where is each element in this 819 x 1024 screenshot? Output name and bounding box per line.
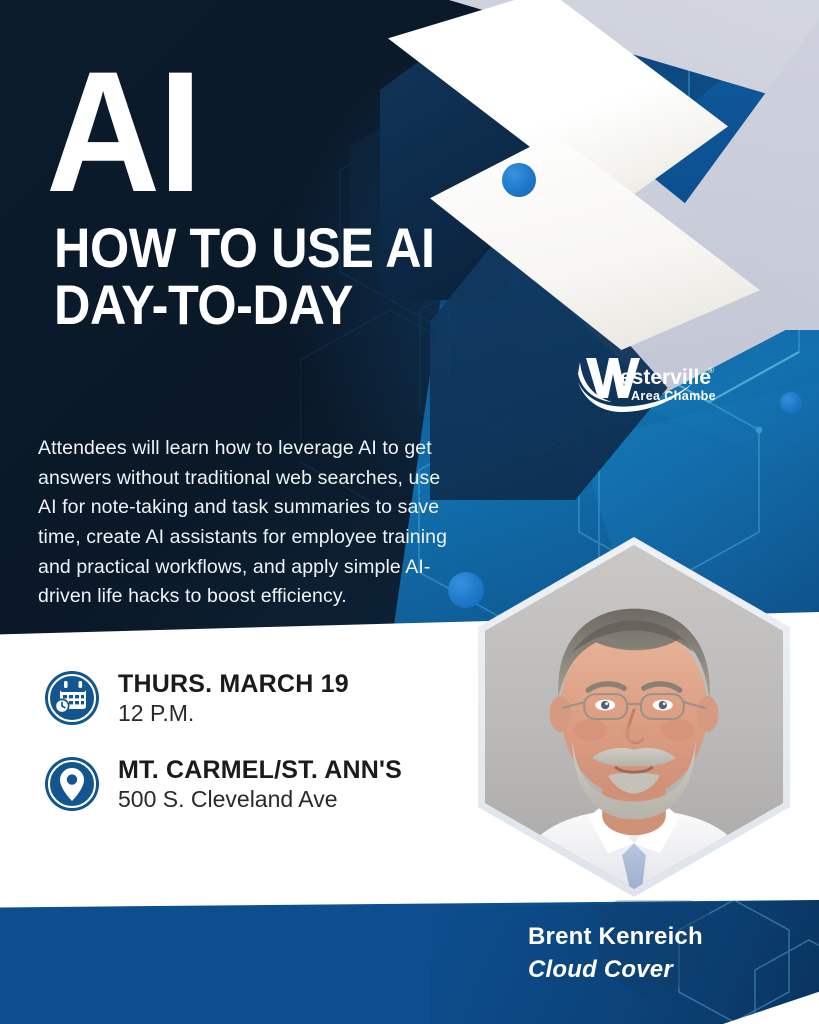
detail-text-location: MT. CARMEL/ST. ANN'S 500 S. Cleveland Av… (118, 754, 402, 814)
event-address: 500 S. Cleveland Ave (118, 786, 402, 814)
speaker-info: Brent Kenreich Cloud Cover (528, 922, 703, 985)
event-details: THURS. MARCH 19 12 P.M. MT. CARMEL/ST. A… (44, 668, 474, 839)
subtitle-line-2: DAY-TO-DAY (54, 276, 551, 333)
map-pin-icon (44, 756, 100, 812)
event-venue: MT. CARMEL/ST. ANN'S (118, 756, 402, 784)
decor-dot-3 (780, 392, 802, 414)
page-title: AI (46, 62, 561, 203)
subtitle: HOW TO USE AI DAY-TO-DAY (54, 219, 551, 333)
calendar-clock-icon (44, 670, 100, 726)
speaker-portrait (478, 537, 790, 897)
event-time: 12 P.M. (118, 700, 349, 728)
detail-row-location: MT. CARMEL/ST. ANN'S 500 S. Cleveland Av… (44, 754, 474, 814)
portrait-photo (485, 545, 783, 889)
hero-text-block: AI HOW TO USE AI DAY-TO-DAY (46, 62, 606, 333)
subtitle-line-1: HOW TO USE AI (54, 219, 551, 276)
logo-registered-mark: ® (708, 366, 714, 375)
logo-tagline: Area Chamber (631, 389, 716, 403)
speaker-organization: Cloud Cover (528, 954, 703, 985)
event-date: THURS. MARCH 19 (118, 670, 349, 698)
detail-text-date: THURS. MARCH 19 12 P.M. (118, 668, 349, 728)
detail-row-date: THURS. MARCH 19 12 P.M. (44, 668, 474, 728)
logo-wordmark: esterville (620, 366, 711, 389)
flyer-canvas: AI HOW TO USE AI DAY-TO-DAY Attendees wi… (0, 0, 819, 1024)
westerville-chamber-logo: esterville ® Area Chamber (576, 352, 716, 414)
speaker-name: Brent Kenreich (528, 922, 703, 952)
description-paragraph: Attendees will learn how to leverage AI … (38, 434, 458, 612)
